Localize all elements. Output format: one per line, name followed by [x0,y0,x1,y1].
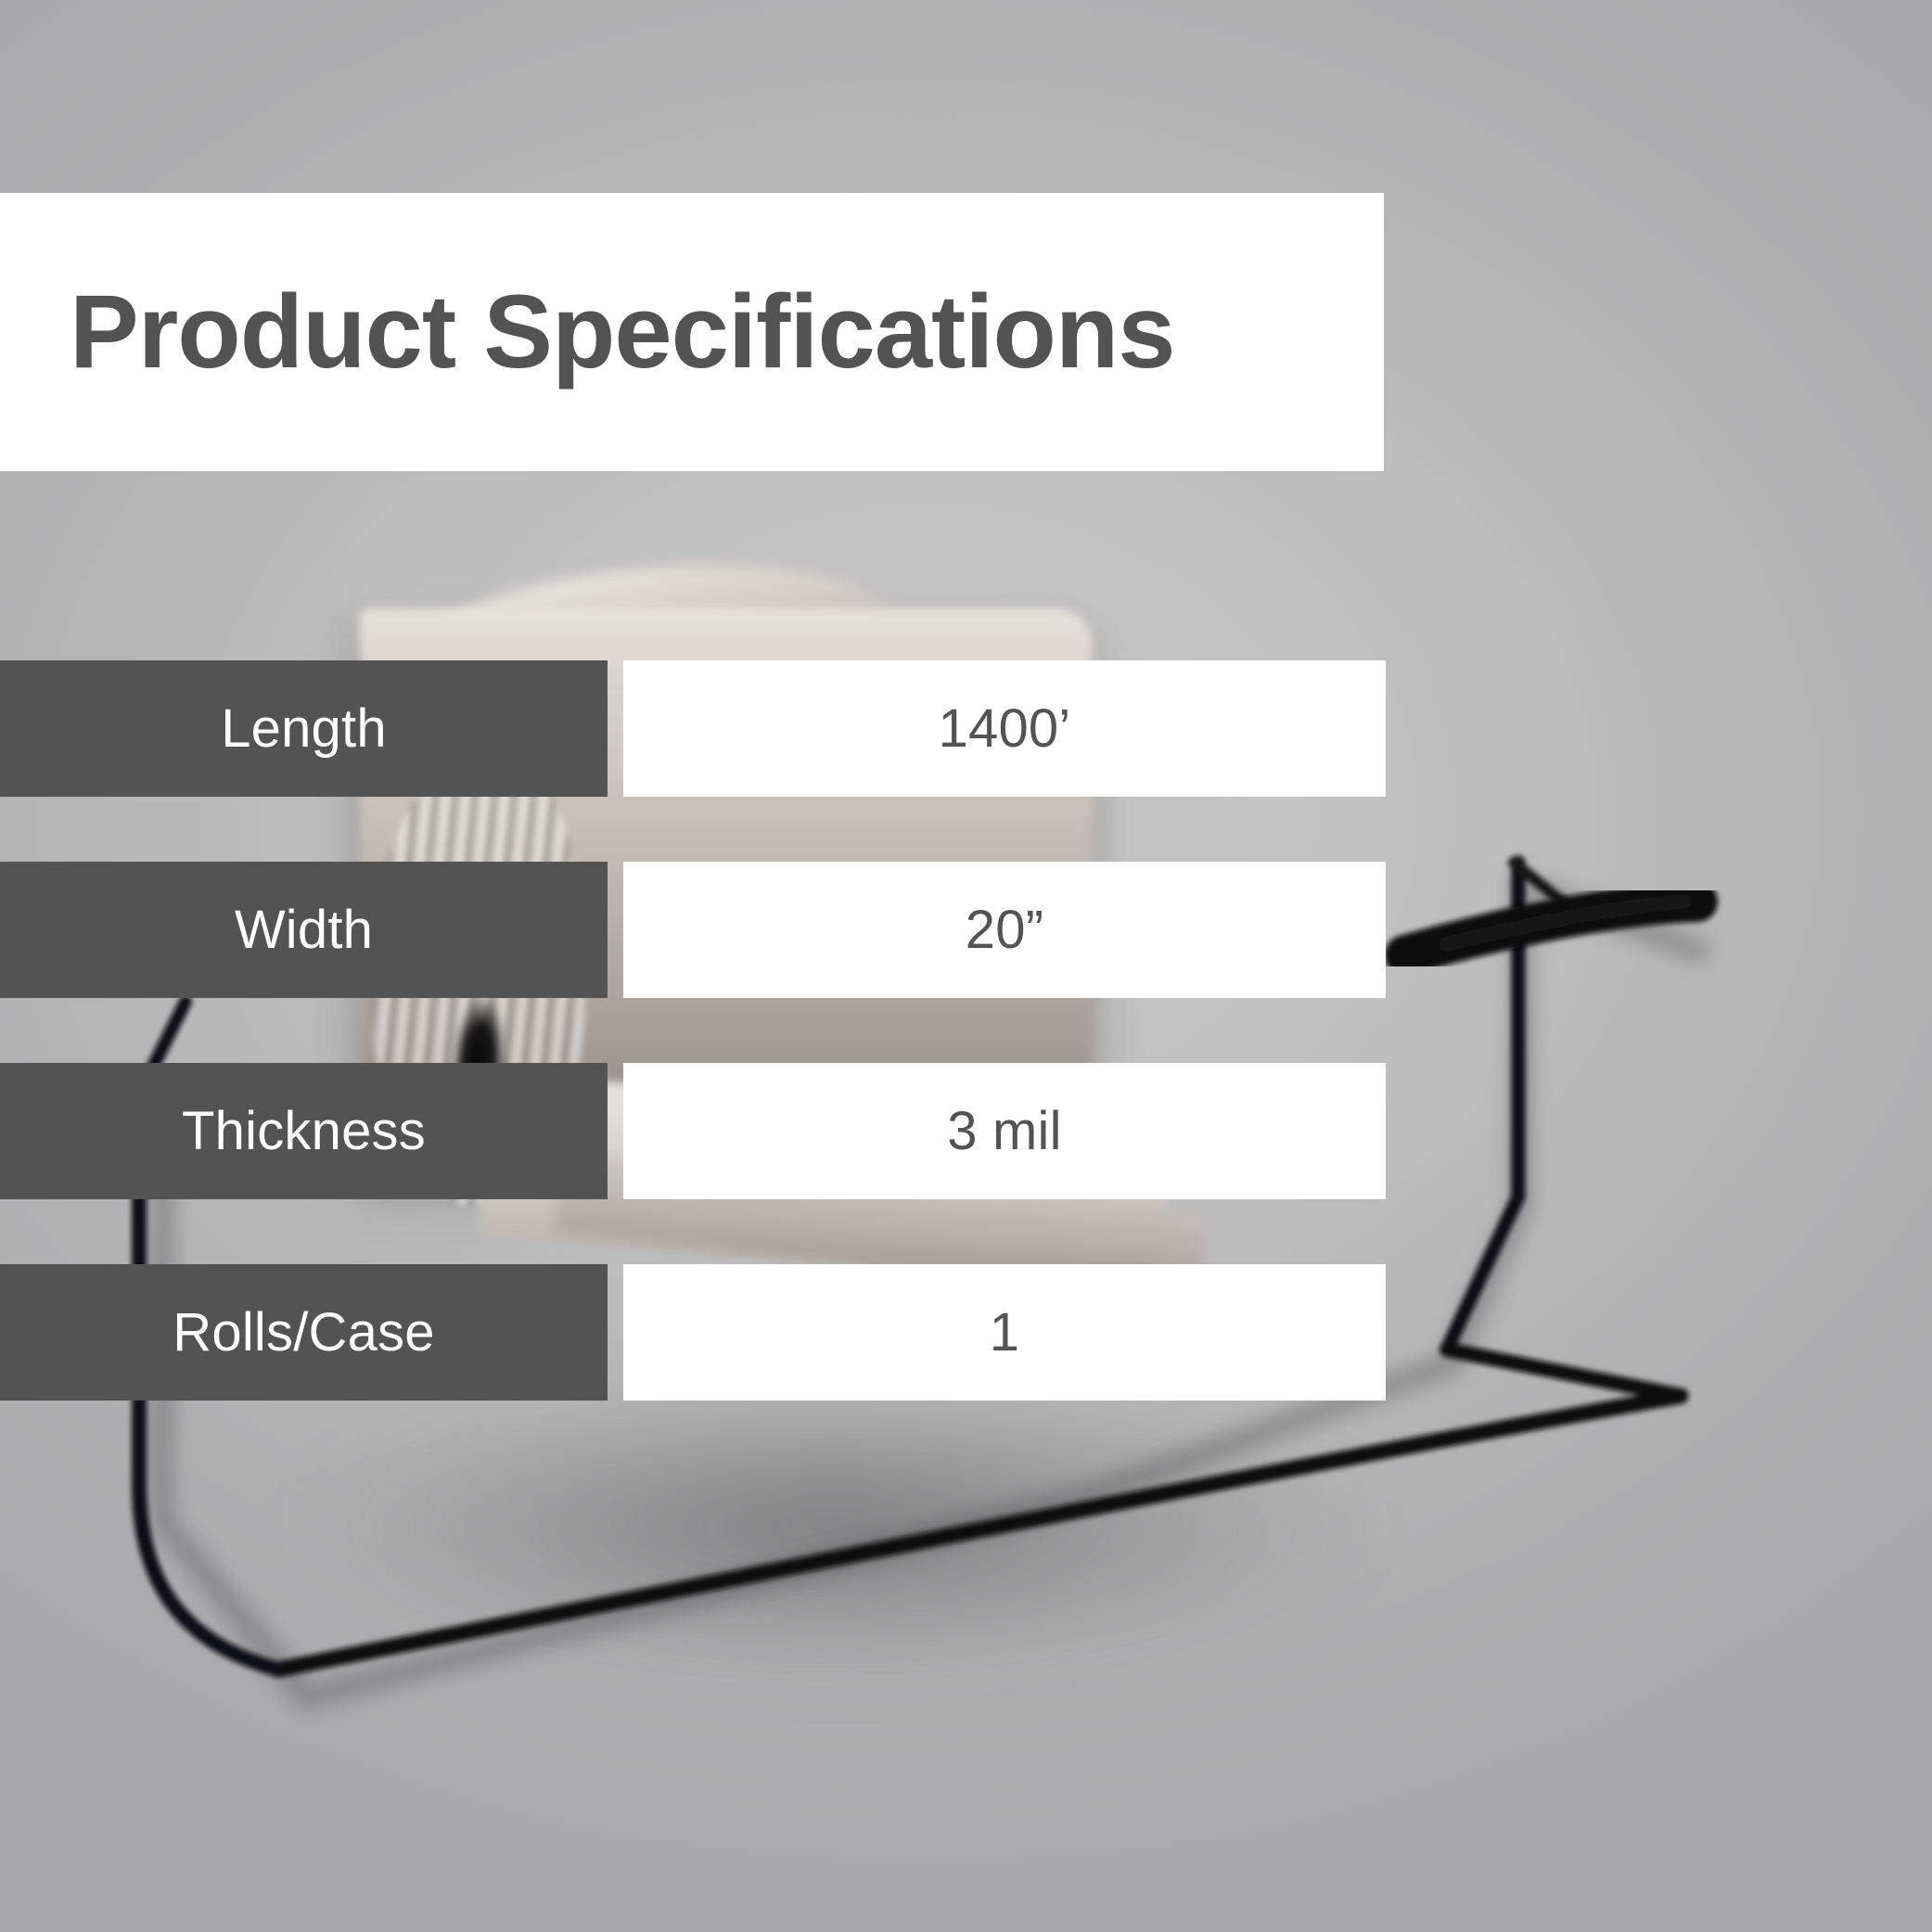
spec-value-length: 1400’ [623,660,1386,797]
table-row: Length 1400’ [0,660,1391,797]
table-row: Rolls/Case 1 [0,1264,1391,1401]
spec-table: Length 1400’ Width 20” Thickness 3 mil R… [0,660,1391,1401]
spec-label-rolls-per-case: Rolls/Case [0,1264,608,1401]
spec-label-length: Length [0,660,608,797]
title-banner: Product Specifications [0,193,1384,471]
spec-value-rolls-per-case: 1 [623,1264,1386,1401]
canvas: Product Specifications Length 1400’ Widt… [0,0,1932,1932]
page-title: Product Specifications [0,280,1175,384]
spec-label-width: Width [0,862,608,998]
spec-value-width: 20” [623,862,1386,998]
table-row: Width 20” [0,862,1391,998]
table-row: Thickness 3 mil [0,1063,1391,1199]
spec-label-thickness: Thickness [0,1063,608,1199]
spec-value-thickness: 3 mil [623,1063,1386,1199]
